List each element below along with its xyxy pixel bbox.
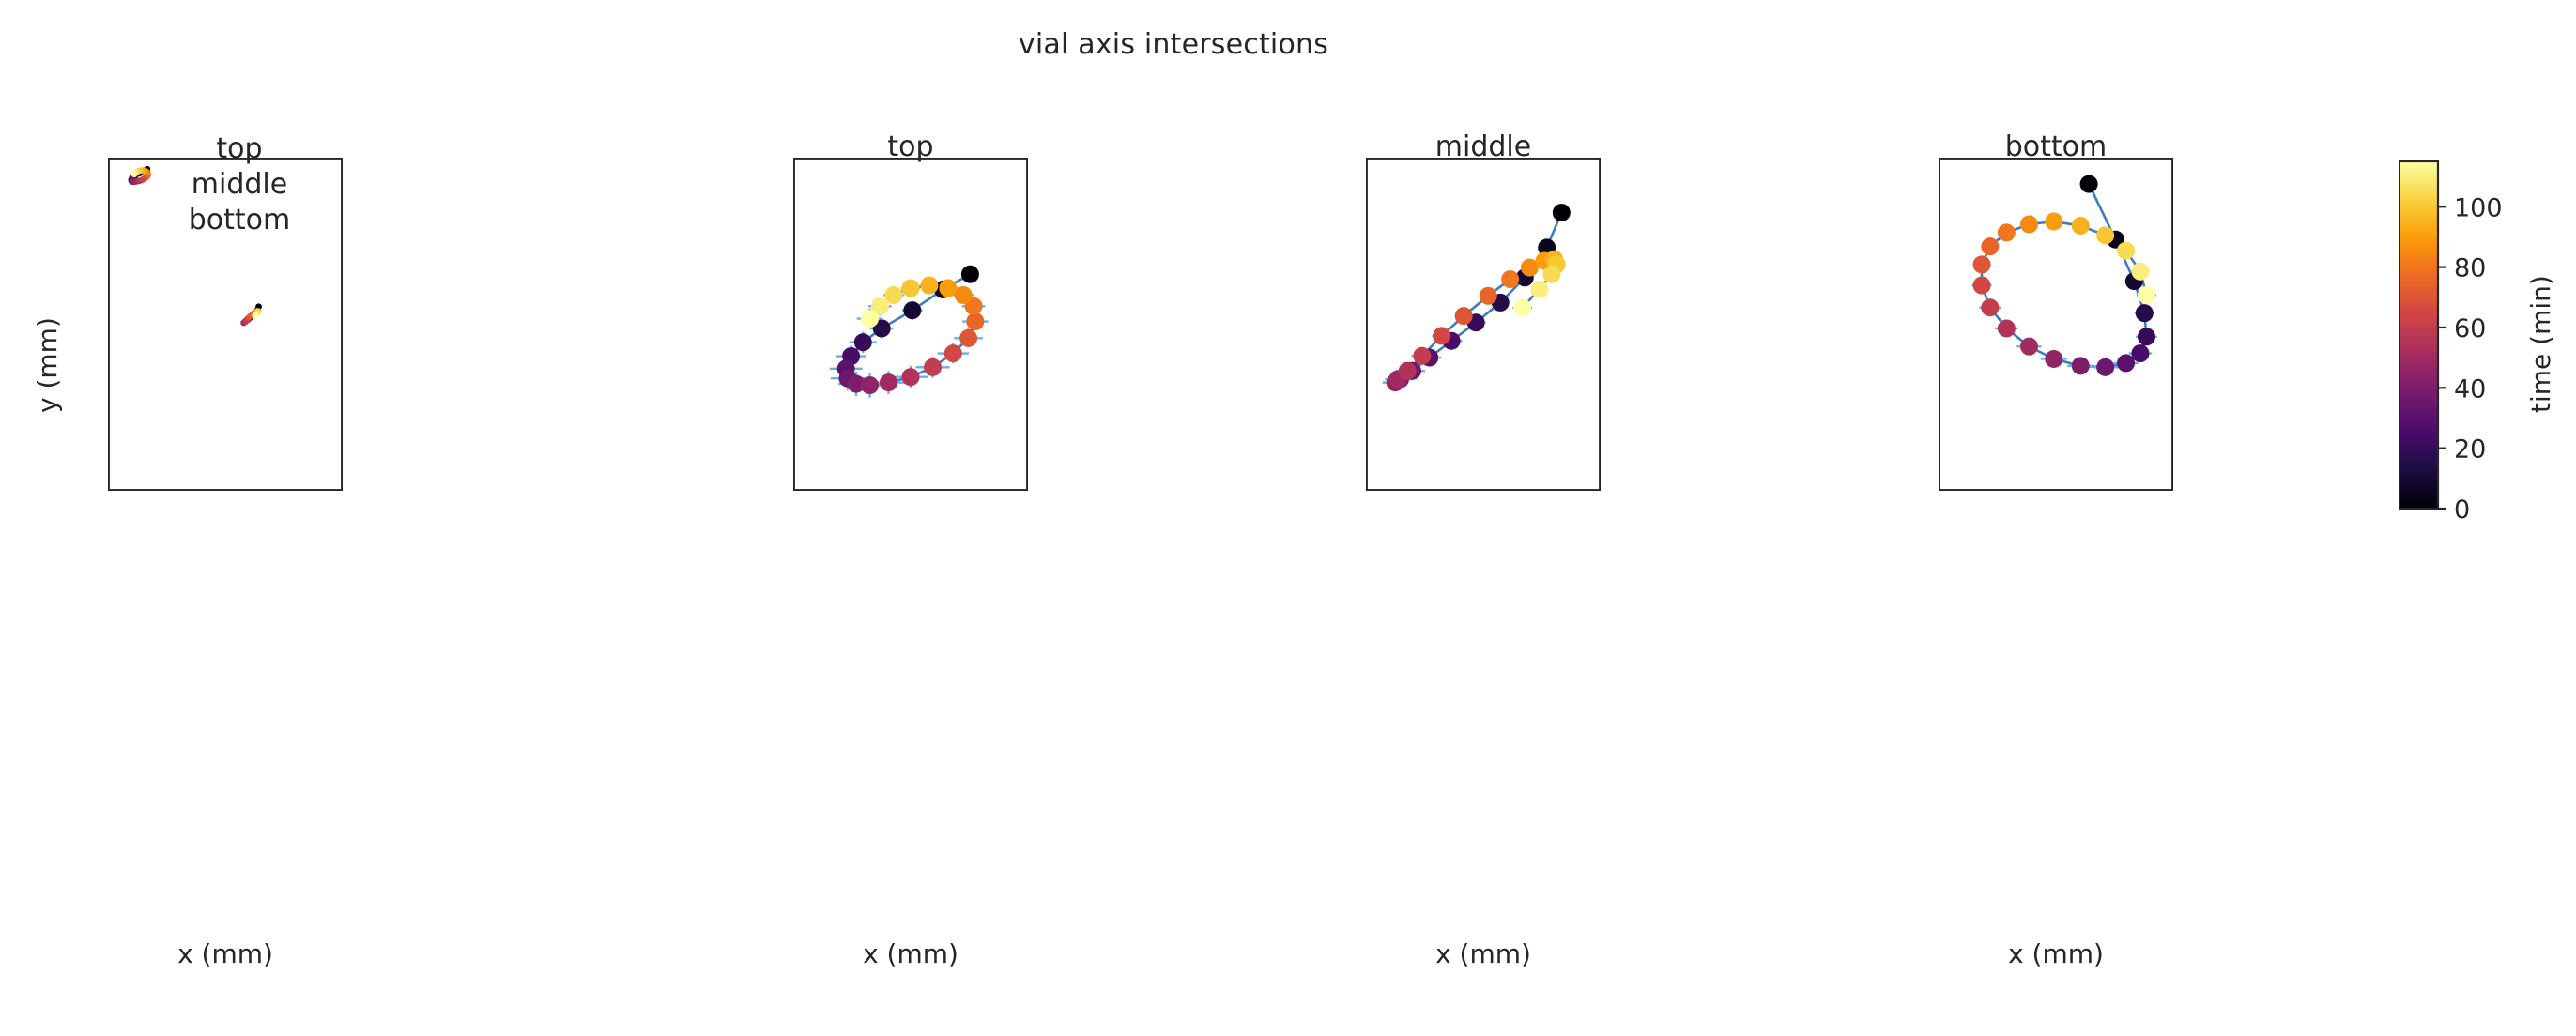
panel-middle-xlabel: x (mm): [1366, 938, 1601, 969]
svg-text:20: 20: [2454, 435, 2486, 465]
panel-bottom: 0.1750.200−1.04−1.06−1.08−1.10−1.12−1.14: [1939, 158, 2173, 491]
panel-overview-xlabel: x (mm): [108, 938, 343, 969]
colorbar-label: time (min): [2525, 275, 2556, 413]
panel-overview-plot: −0.250.00−0.2−0.4−0.6−0.8−1.0: [108, 158, 343, 491]
svg-text:0: 0: [2454, 495, 2470, 519]
svg-text:80: 80: [2454, 254, 2486, 283]
svg-text:40: 40: [2454, 374, 2486, 404]
figure-suptitle: vial axis intersections: [0, 28, 2347, 61]
panel-top-xlabel: x (mm): [793, 938, 1028, 969]
panel-middle-plot: −0.08−0.06−0.60−0.62−0.64−0.66−0.68: [1366, 158, 1601, 491]
svg-text:60: 60: [2454, 314, 2486, 343]
figure-canvas: vial axis intersections top middle botto…: [0, 0, 2576, 1036]
panel-bottom-xlabel: x (mm): [1939, 938, 2173, 969]
colorbar: 020406080100: [2399, 158, 2521, 519]
panel-overview: −0.250.00−0.2−0.4−0.6−0.8−1.0: [108, 158, 343, 491]
panel-bottom-plot: 0.1750.200−1.04−1.06−1.08−1.10−1.12−1.14: [1939, 158, 2173, 491]
panel-top-plot: −0.350−0.325−0.300−0.14−0.16−0.18−0.20−0…: [793, 158, 1028, 491]
panel-middle: −0.08−0.06−0.60−0.62−0.64−0.66−0.68: [1366, 158, 1601, 491]
panel-overview-ylabel: y (mm): [32, 317, 63, 413]
panel-top: −0.350−0.325−0.300−0.14−0.16−0.18−0.20−0…: [793, 158, 1028, 491]
colorbar-gradient: 020406080100: [2399, 158, 2521, 519]
svg-text:100: 100: [2454, 193, 2503, 222]
